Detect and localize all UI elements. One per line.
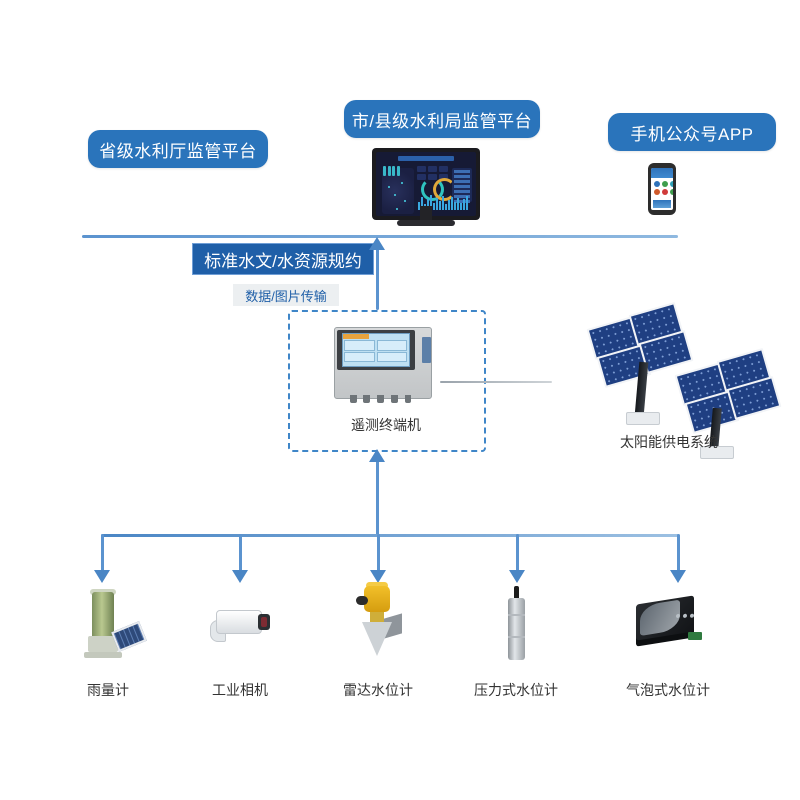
data-transmission-tag: 数据/图片传输 [233,284,339,306]
arrow-down-icon-pressure-level [509,570,525,583]
drop-line-rain-gauge [101,534,104,572]
industrial-camera-icon [206,600,276,656]
rtu-label: 遥测终端机 [351,417,421,433]
radar-level-icon [350,586,406,662]
platform-card-municipal[interactable]: 市/县级水利局监管平台 [344,100,540,138]
platform-card-mobile-app[interactable]: 手机公众号APP [608,113,776,151]
protocol-label: 标准水文/水资源规约 [204,247,362,272]
sensor-caption-bubbler-level: 气泡式水位计 [608,680,728,700]
sensor-uplink-line [376,460,379,536]
solar-panel-icon [588,300,788,450]
sensor-label-radar-level: 雷达水位计 [343,682,413,698]
sensor-label-industrial-camera: 工业相机 [212,682,268,698]
sensor-label-rain-gauge: 雨量计 [87,682,129,698]
arrow-up-icon-uplink [369,237,385,250]
arrow-down-icon-rain-gauge [94,570,110,583]
protocol-standard-box: 标准水文/水资源规约 [192,243,374,275]
solar-label: 太阳能供电系统 [620,434,718,450]
drop-line-pressure-level [516,534,519,572]
drop-line-radar-level [377,534,380,572]
desktop-monitor-icon [372,148,480,226]
platform-label-provincial: 省级水利厅监管平台 [99,137,257,162]
arrow-down-icon-industrial-camera [232,570,248,583]
solar-caption: 太阳能供电系统 [594,432,744,452]
platform-card-provincial[interactable]: 省级水利厅监管平台 [88,130,268,168]
drop-line-industrial-camera [239,534,242,572]
pressure-level-icon [490,590,542,662]
rtu-caption: 遥测终端机 [306,415,466,435]
sensor-caption-industrial-camera: 工业相机 [180,680,300,700]
platform-label-municipal: 市/县级水利局监管平台 [352,107,532,132]
rtu-antenna-icon [440,381,552,383]
smartphone-icon [648,163,676,215]
sensor-label-pressure-level: 压力式水位计 [474,682,558,698]
diagram-canvas: 省级水利厅监管平台 市/县级水利局监管平台 手机公众号APP [0,0,800,800]
arrow-up-icon-sensor-bus [369,449,385,462]
platform-label-mobile-app: 手机公众号APP [630,120,753,145]
drop-line-bubbler-level [677,534,680,572]
rain-gauge-icon [78,592,144,660]
bubbler-level-icon [630,592,706,654]
sensor-caption-pressure-level: 压力式水位计 [456,680,576,700]
rtu-uplink-line [376,248,379,310]
sensor-caption-rain-gauge: 雨量计 [48,680,168,700]
rtu-cabinet-icon [334,327,432,399]
sensor-bus-line [101,534,679,537]
sensor-caption-radar-level: 雷达水位计 [318,680,438,700]
phone-app-screen [651,168,673,210]
arrow-down-icon-bubbler-level [670,570,686,583]
data-transmission-label: 数据/图片传输 [245,286,327,305]
sensor-label-bubbler-level: 气泡式水位计 [626,682,710,698]
